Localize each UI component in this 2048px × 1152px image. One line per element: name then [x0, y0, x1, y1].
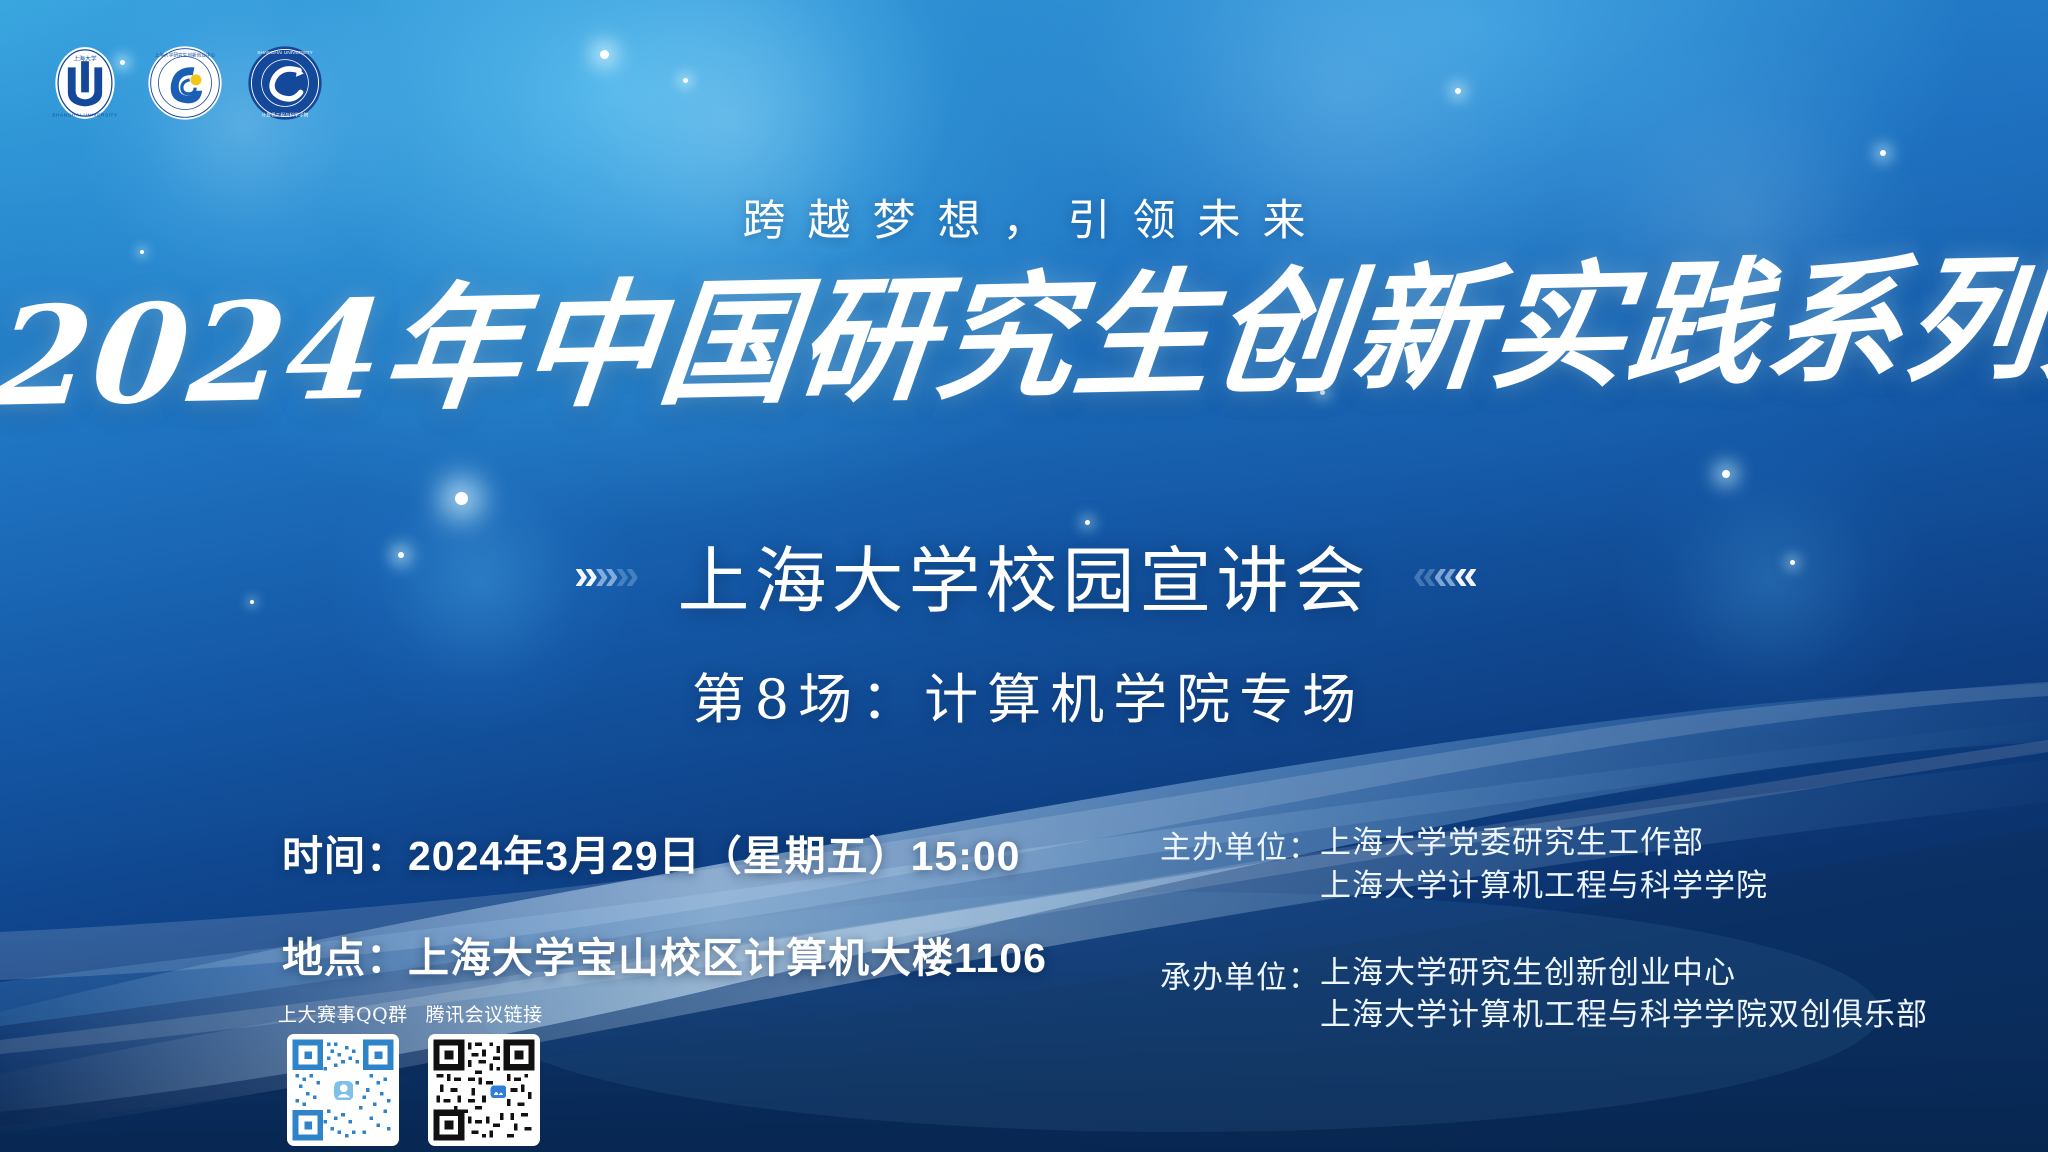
organizer-label: 承办单位： — [1160, 952, 1320, 1038]
chevron-right-ornament: ««« — [1413, 553, 1474, 597]
tencent-meeting-qr-caption: 腾讯会议链接 — [426, 1000, 543, 1027]
poster-session-line: 第8场：计算机学院专场 — [0, 655, 2048, 734]
ces-school-logo: CES SHANGHAI UNIVERSITY 计算机工程与科学学院 — [246, 44, 324, 122]
sparkle-dot — [1455, 88, 1461, 94]
logo-row: 上海大学 SHANGHAI UNIVERSITY 上海大学研究生创新创业中心 — [46, 44, 324, 122]
chevron-left-ornament: »»» — [574, 553, 635, 597]
sparkle-dot — [1880, 150, 1886, 156]
tencent-meeting-qr[interactable] — [428, 1034, 540, 1146]
poster-main-title: 2024年中国研究生创新实践系列大赛 — [0, 208, 2048, 444]
sparkle-dot — [683, 78, 688, 83]
host-value: 上海大学党委研究生工作部 — [1320, 822, 1768, 865]
poster-subtitle-row: »»» 上海大学校园宣讲会 ««« — [0, 522, 2048, 627]
qq-group-qr[interactable] — [287, 1034, 399, 1146]
sparkle-dot — [600, 50, 609, 59]
host-label: 主办单位： — [1160, 822, 1320, 908]
event-time: 时间：2024年3月29日（星期五）15:00 — [282, 822, 1047, 882]
organizer-value: 上海大学计算机工程与科学学院双创俱乐部 — [1320, 994, 1928, 1037]
sparkle-dot — [455, 492, 468, 505]
organizer-value: 上海大学研究生创新创业中心 — [1320, 952, 1928, 995]
qq-group-qr-caption: 上大赛事QQ群 — [278, 1000, 408, 1027]
svg-text:CES: CES — [275, 80, 296, 91]
event-poster: 上海大学 SHANGHAI UNIVERSITY 上海大学研究生创新创业中心 — [0, 0, 2048, 1152]
organizer-block: 主办单位： 上海大学党委研究生工作部 上海大学计算机工程与科学学院 承办单位： … — [1160, 822, 1928, 1081]
host-values: 上海大学党委研究生工作部 上海大学计算机工程与科学学院 — [1320, 822, 1768, 908]
host-group: 主办单位： 上海大学党委研究生工作部 上海大学计算机工程与科学学院 — [1160, 822, 1928, 908]
poster-subtitle: 上海大学校园宣讲会 — [677, 522, 1370, 627]
event-place: 地点：上海大学宝山校区计算机大楼1106 — [282, 924, 1047, 984]
graduate-innovation-center-logo: 上海大学研究生创新创业中心 — [146, 44, 224, 122]
sparkle-dot — [1722, 470, 1730, 478]
organizer-group: 承办单位： 上海大学研究生创新创业中心 上海大学计算机工程与科学学院双创俱乐部 — [1160, 952, 1928, 1038]
organizer-values: 上海大学研究生创新创业中心 上海大学计算机工程与科学学院双创俱乐部 — [1320, 952, 1928, 1038]
event-details: 时间：2024年3月29日（星期五）15:00 地点：上海大学宝山校区计算机大楼… — [282, 822, 1047, 1026]
qr-code-row: 上大赛事QQ群 — [278, 1000, 543, 1146]
qq-group-qr-item: 上大赛事QQ群 — [278, 1000, 408, 1146]
tencent-meeting-qr-item: 腾讯会议链接 — [426, 1000, 543, 1146]
shanghai-university-logo: 上海大学 SHANGHAI UNIVERSITY — [46, 44, 124, 122]
svg-text:SHANGHAI UNIVERSITY: SHANGHAI UNIVERSITY — [257, 50, 313, 56]
host-value: 上海大学计算机工程与科学学院 — [1320, 865, 1768, 908]
svg-text:SHANGHAI UNIVERSITY: SHANGHAI UNIVERSITY — [52, 113, 117, 118]
